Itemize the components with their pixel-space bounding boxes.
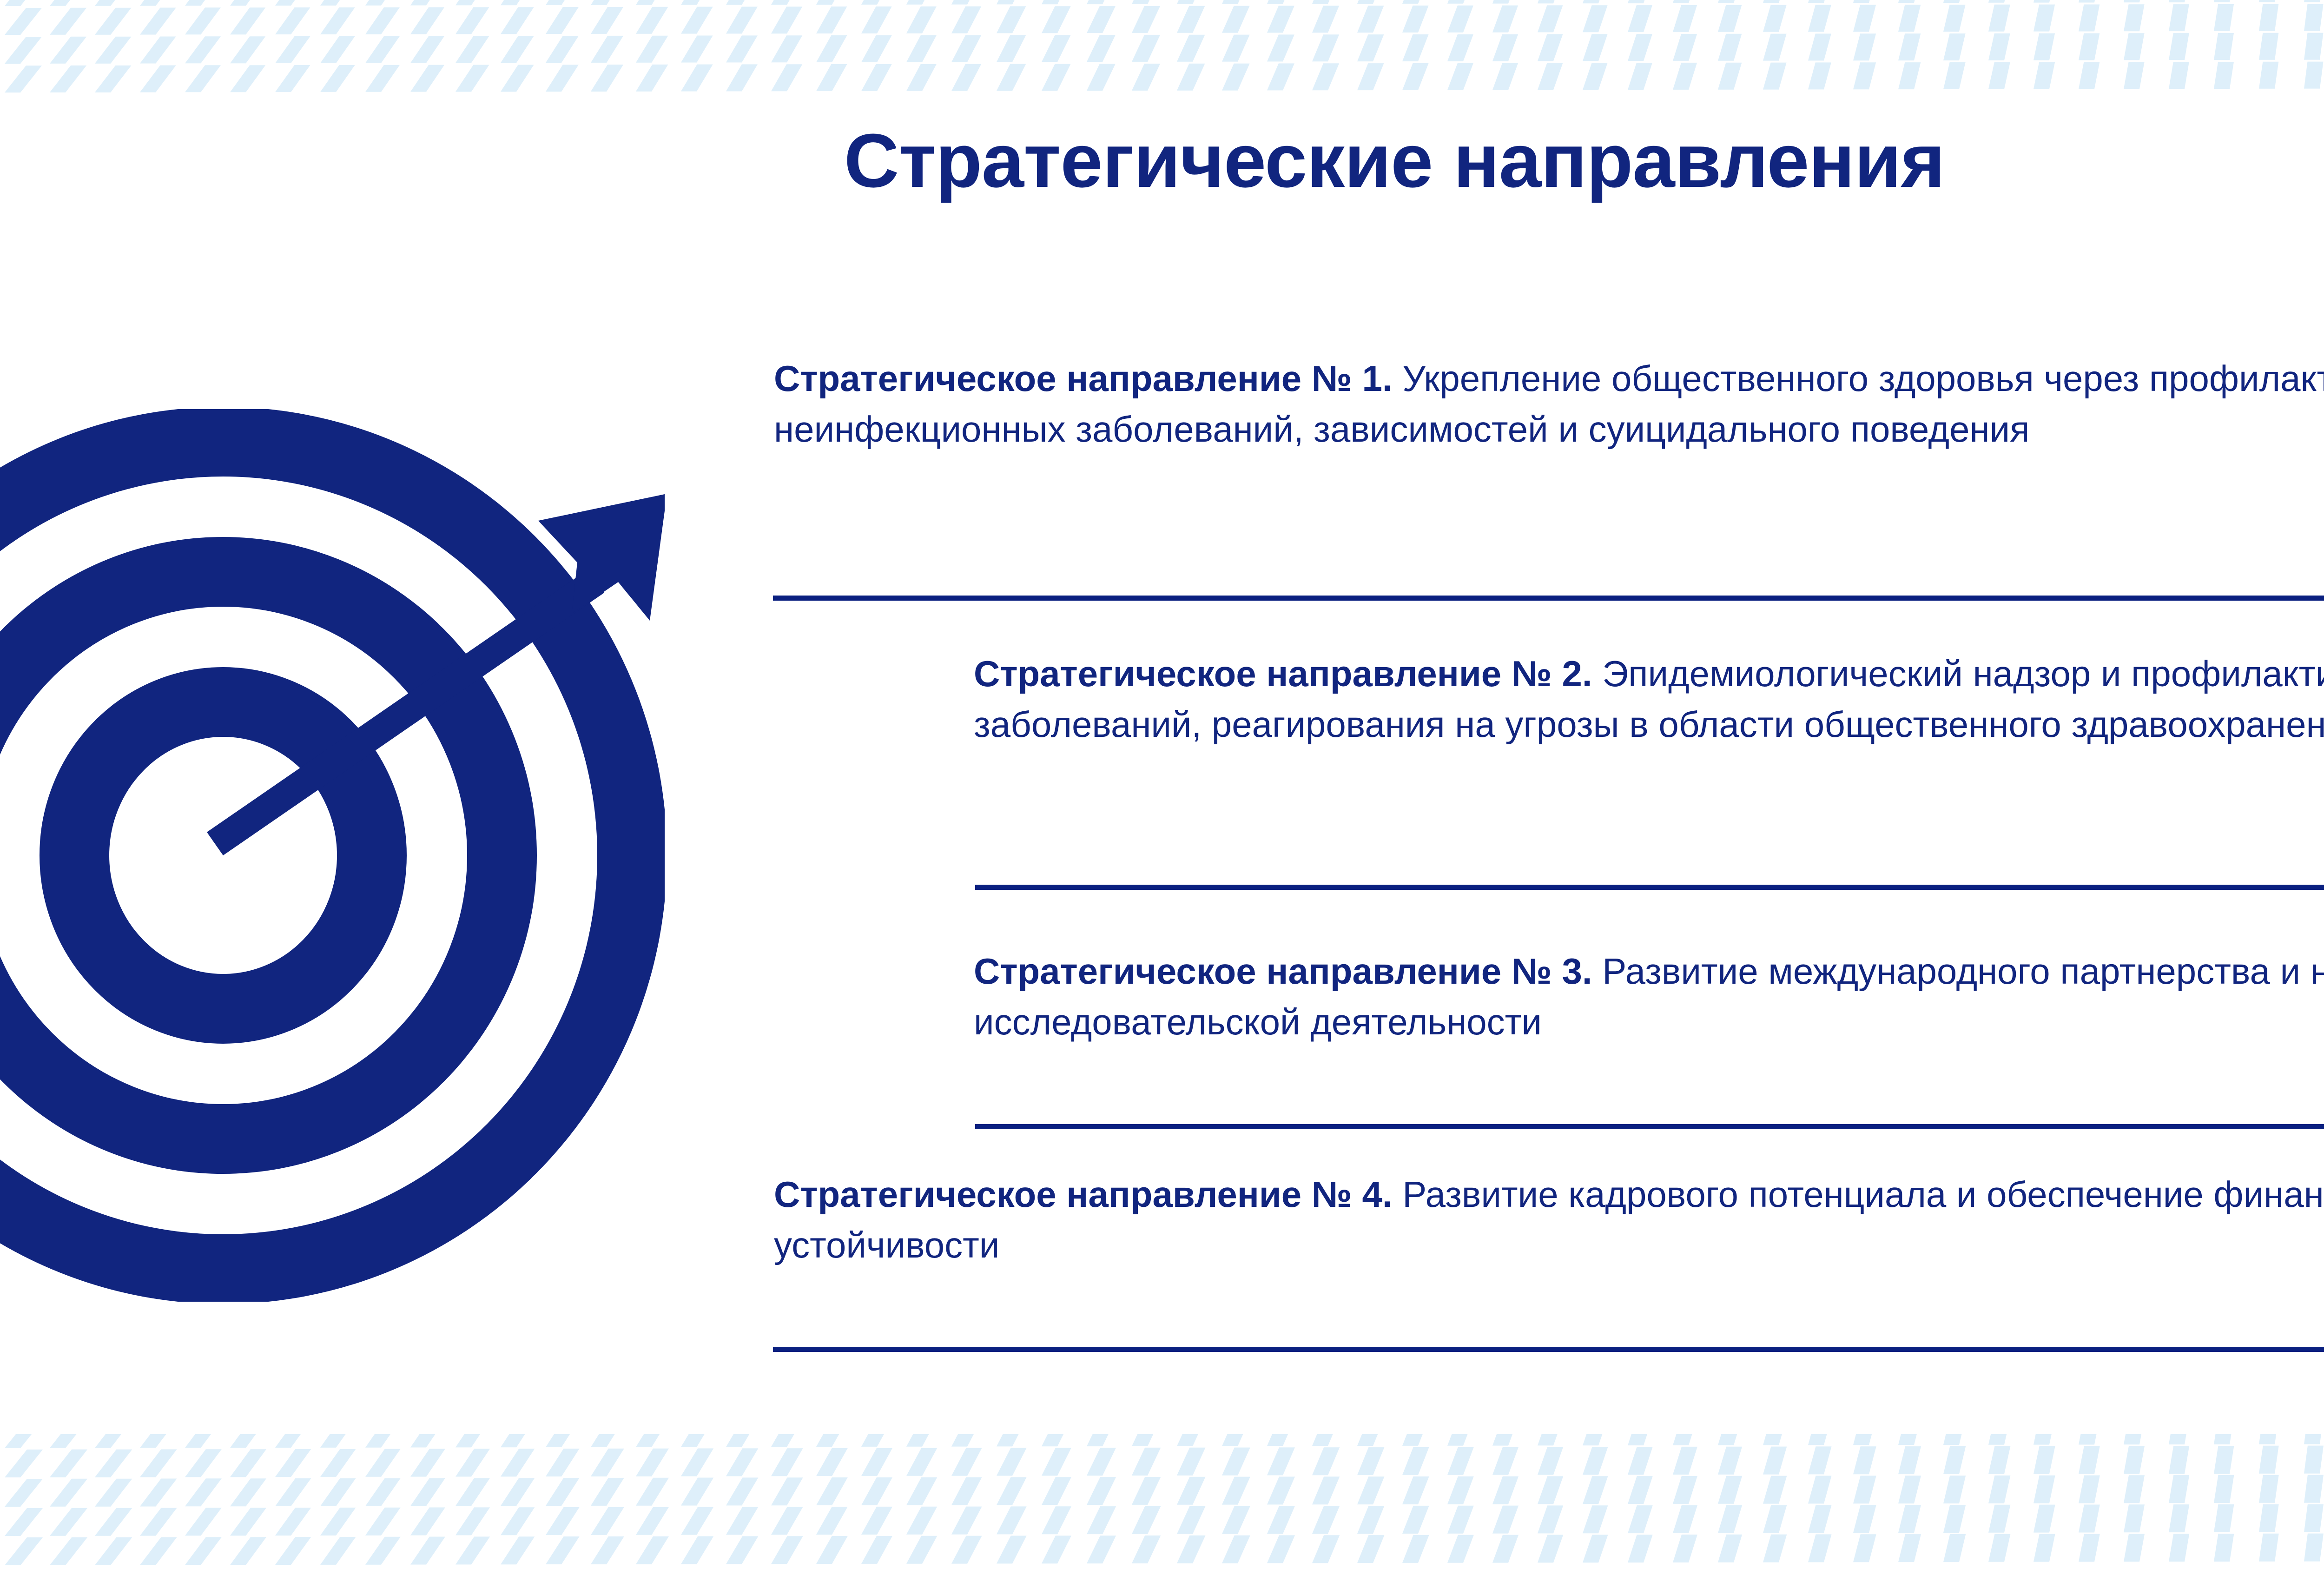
direction-label-2: Стратегическое направление № 2. [974,653,1592,694]
divider-4 [773,1347,2324,1352]
divider-2 [975,885,2324,890]
direction-label-1: Стратегическое направление № 1. [774,358,1393,399]
direction-item-1: Стратегическое направление № 1. Укреплен… [774,353,2324,455]
direction-item-2: Стратегическое направление № 2. Эпидемио… [974,649,2324,750]
divider-1 [773,596,2324,601]
direction-label-3: Стратегическое направление № 3. [974,951,1592,992]
directions-list: Стратегическое направление № 1. Укреплен… [0,0,2324,1569]
divider-3 [975,1124,2324,1129]
direction-item-4: Стратегическое направление № 4. Развитие… [774,1169,2324,1271]
direction-label-4: Стратегическое направление № 4. [774,1174,1393,1215]
slide-root: Стратегические направления Стратегическо… [0,0,2324,1569]
direction-item-3: Стратегическое направление № 3. Развитие… [974,946,2324,1047]
